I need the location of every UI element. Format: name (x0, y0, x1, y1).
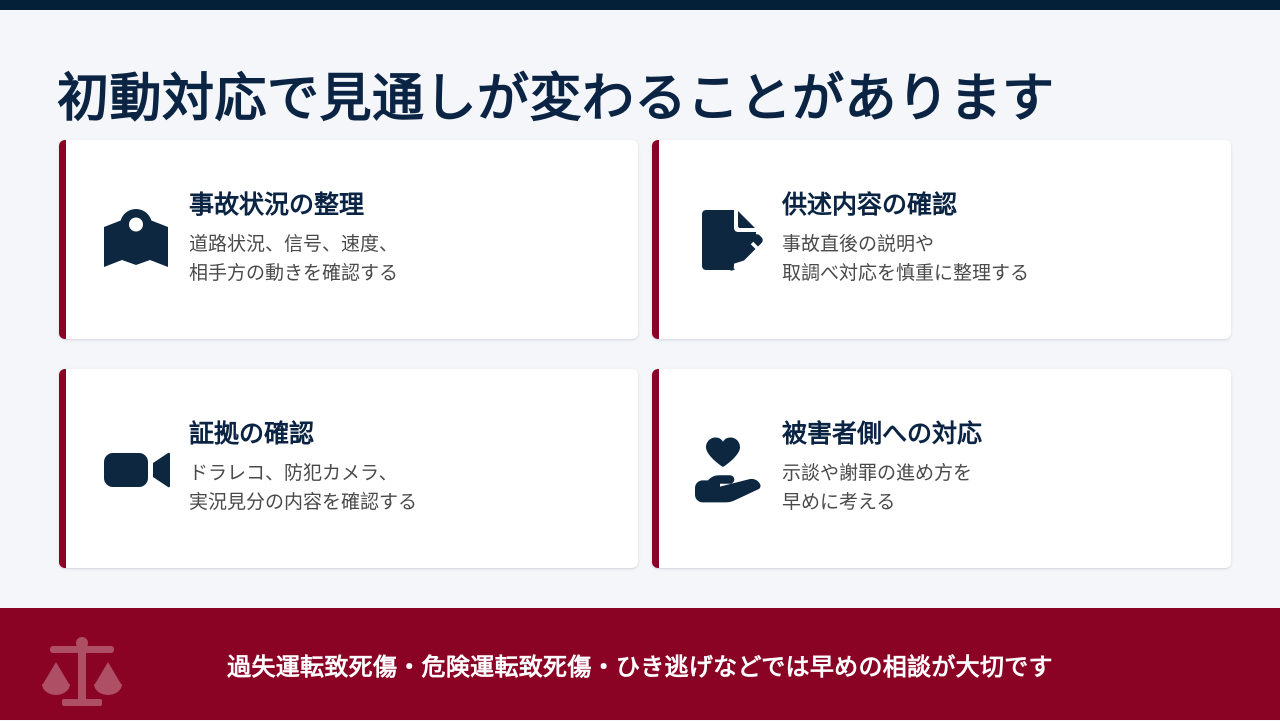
footer-message: 過失運転致死傷・危険運転致死傷・ひき逃げなどでは早めの相談が大切です (0, 608, 1280, 720)
card-heading: 事故状況の整理 (189, 190, 620, 221)
card-heading: 被害者側への対応 (782, 419, 1213, 450)
document-pencil-icon (690, 201, 768, 279)
top-accent-bar (0, 0, 1280, 10)
card-accent-bar (652, 369, 659, 568)
card-grid: 事故状況の整理 道路状況、信号、速度、 相手方の動きを確認する (59, 140, 1231, 568)
card-heading: 証拠の確認 (189, 419, 620, 450)
card-heading: 供述内容の確認 (782, 190, 1213, 221)
card-statement-confirmation[interactable]: 供述内容の確認 事故直後の説明や 取調べ対応を慎重に整理する (652, 140, 1231, 339)
card-victim-response[interactable]: 被害者側への対応 示談や謝罪の進め方を 早めに考える (652, 369, 1231, 568)
card-accent-bar (652, 140, 659, 339)
video-camera-icon (97, 430, 175, 508)
card-accent-bar (59, 140, 66, 339)
card-accent-bar (59, 369, 66, 568)
card-description: 事故直後の説明や 取調べ対応を慎重に整理する (782, 231, 1213, 289)
page-title: 初動対応で見通しが変わることがあります (57, 66, 1217, 132)
card-text-block: 被害者側への対応 示談や謝罪の進め方を 早めに考える (782, 369, 1213, 568)
card-text-block: 事故状況の整理 道路状況、信号、速度、 相手方の動きを確認する (189, 140, 620, 339)
card-evidence-confirmation[interactable]: 証拠の確認 ドラレコ、防犯カメラ、 実況見分の内容を確認する (59, 369, 638, 568)
card-description: 道路状況、信号、速度、 相手方の動きを確認する (189, 231, 620, 289)
card-description: ドラレコ、防犯カメラ、 実況見分の内容を確認する (189, 460, 620, 518)
card-accident-situation[interactable]: 事故状況の整理 道路状況、信号、速度、 相手方の動きを確認する (59, 140, 638, 339)
heart-in-hand-icon (690, 430, 768, 508)
card-description: 示談や謝罪の進め方を 早めに考える (782, 460, 1213, 518)
card-text-block: 証拠の確認 ドラレコ、防犯カメラ、 実況見分の内容を確認する (189, 369, 620, 568)
card-text-block: 供述内容の確認 事故直後の説明や 取調べ対応を慎重に整理する (782, 140, 1213, 339)
slide-canvas: 初動対応で見通しが変わることがあります (0, 0, 1280, 720)
map-pin-icon (97, 201, 175, 279)
